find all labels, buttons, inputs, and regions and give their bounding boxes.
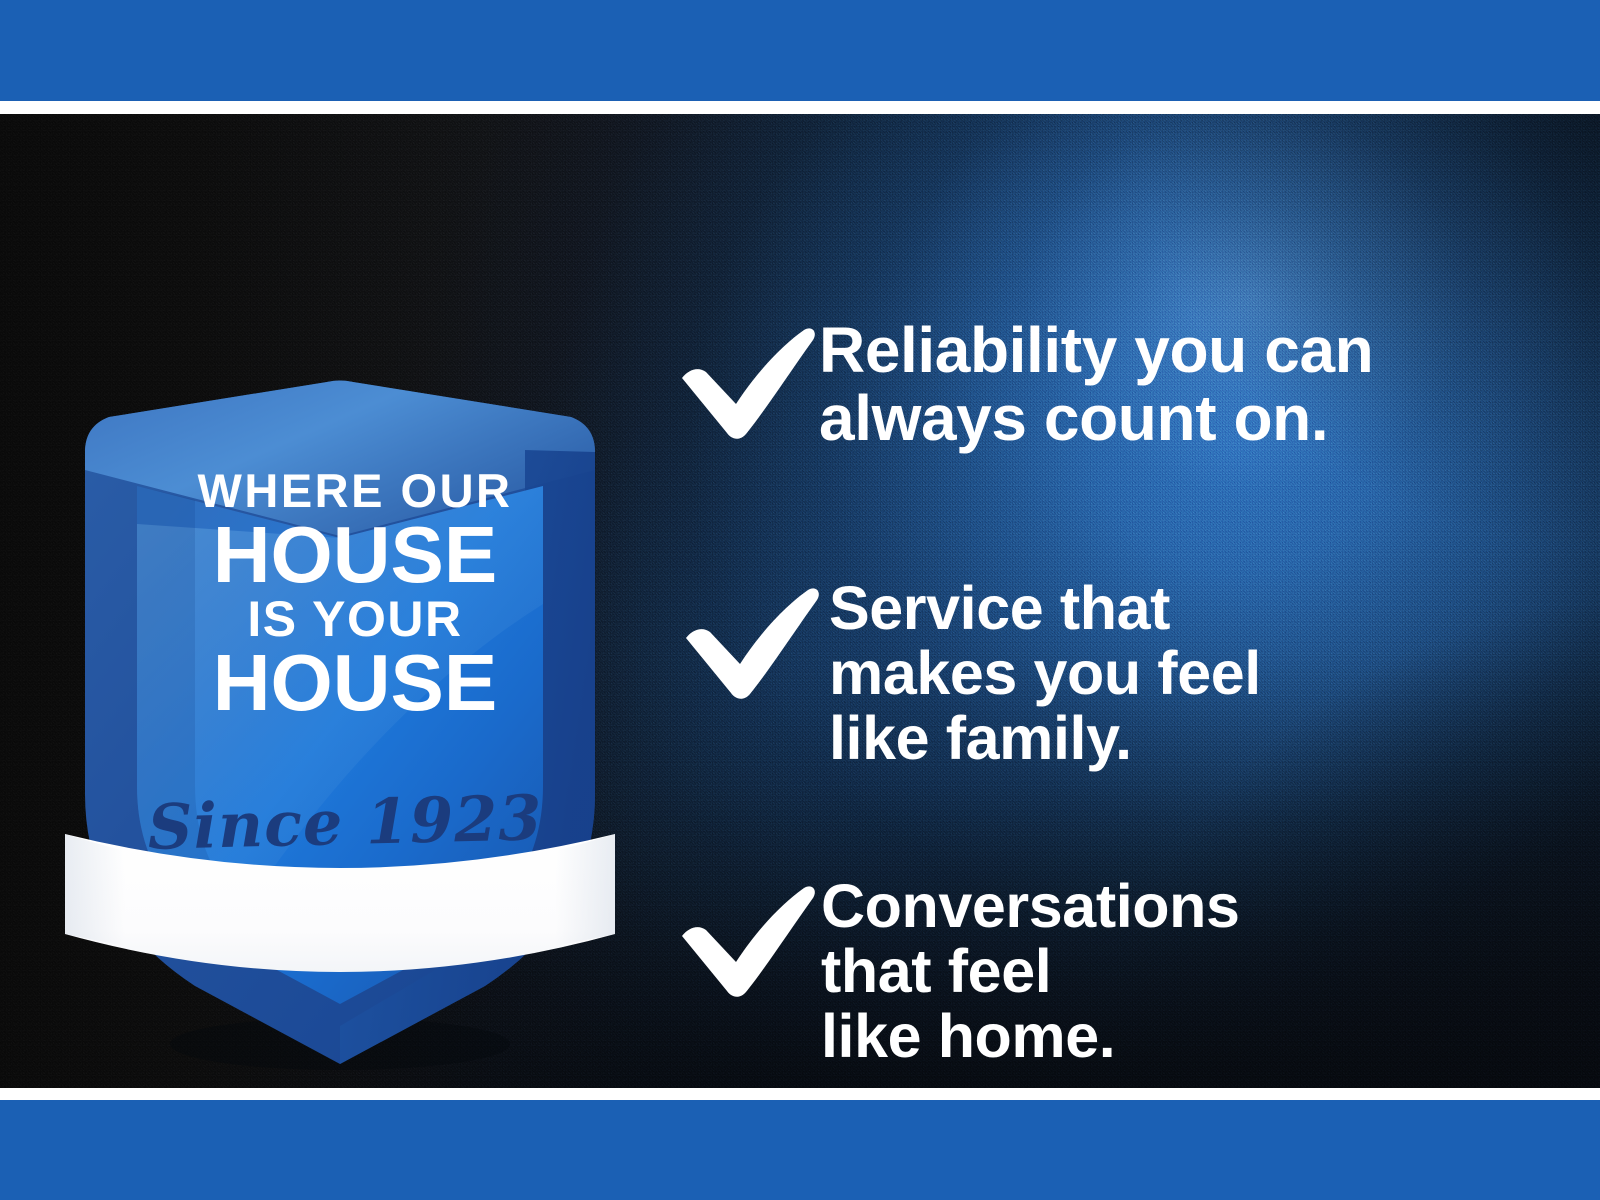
wordmark-line-4: HOUSE [150, 646, 560, 720]
top-accent-bar [0, 0, 1600, 101]
checkmark-icon [674, 878, 819, 998]
promo-graphic: WHERE OUR HOUSE IS YOUR HOUSE Since 1923… [0, 0, 1600, 1200]
bottom-accent-bar [0, 1100, 1600, 1200]
benefits-list: Reliability you can always count on. Ser… [660, 228, 1560, 1088]
checkmark-icon [674, 320, 819, 440]
wordmark-line-3: IS YOUR [150, 596, 560, 642]
wordmark-line-1: WHERE OUR [150, 469, 560, 512]
benefit-text: Conversations that feel like home. [821, 874, 1560, 1069]
brand-shield-badge: WHERE OUR HOUSE IS YOUR HOUSE Since 1923 [55, 274, 625, 1074]
shield-wordmark: WHERE OUR HOUSE IS YOUR HOUSE [150, 469, 560, 719]
wordmark-line-2: HOUSE [150, 518, 560, 592]
benefit-item: Reliability you can always count on. [660, 320, 1560, 452]
benefit-item: Conversations that feel like home. [660, 878, 1560, 1069]
benefit-text: Service that makes you feel like family. [829, 576, 1560, 771]
content-stage: WHERE OUR HOUSE IS YOUR HOUSE Since 1923… [0, 114, 1600, 1088]
since-year-text: Since 1923 [109, 780, 581, 864]
checkmark-icon [678, 580, 823, 700]
benefit-text: Reliability you can always count on. [819, 316, 1560, 452]
benefit-item: Service that makes you feel like family. [660, 580, 1560, 771]
